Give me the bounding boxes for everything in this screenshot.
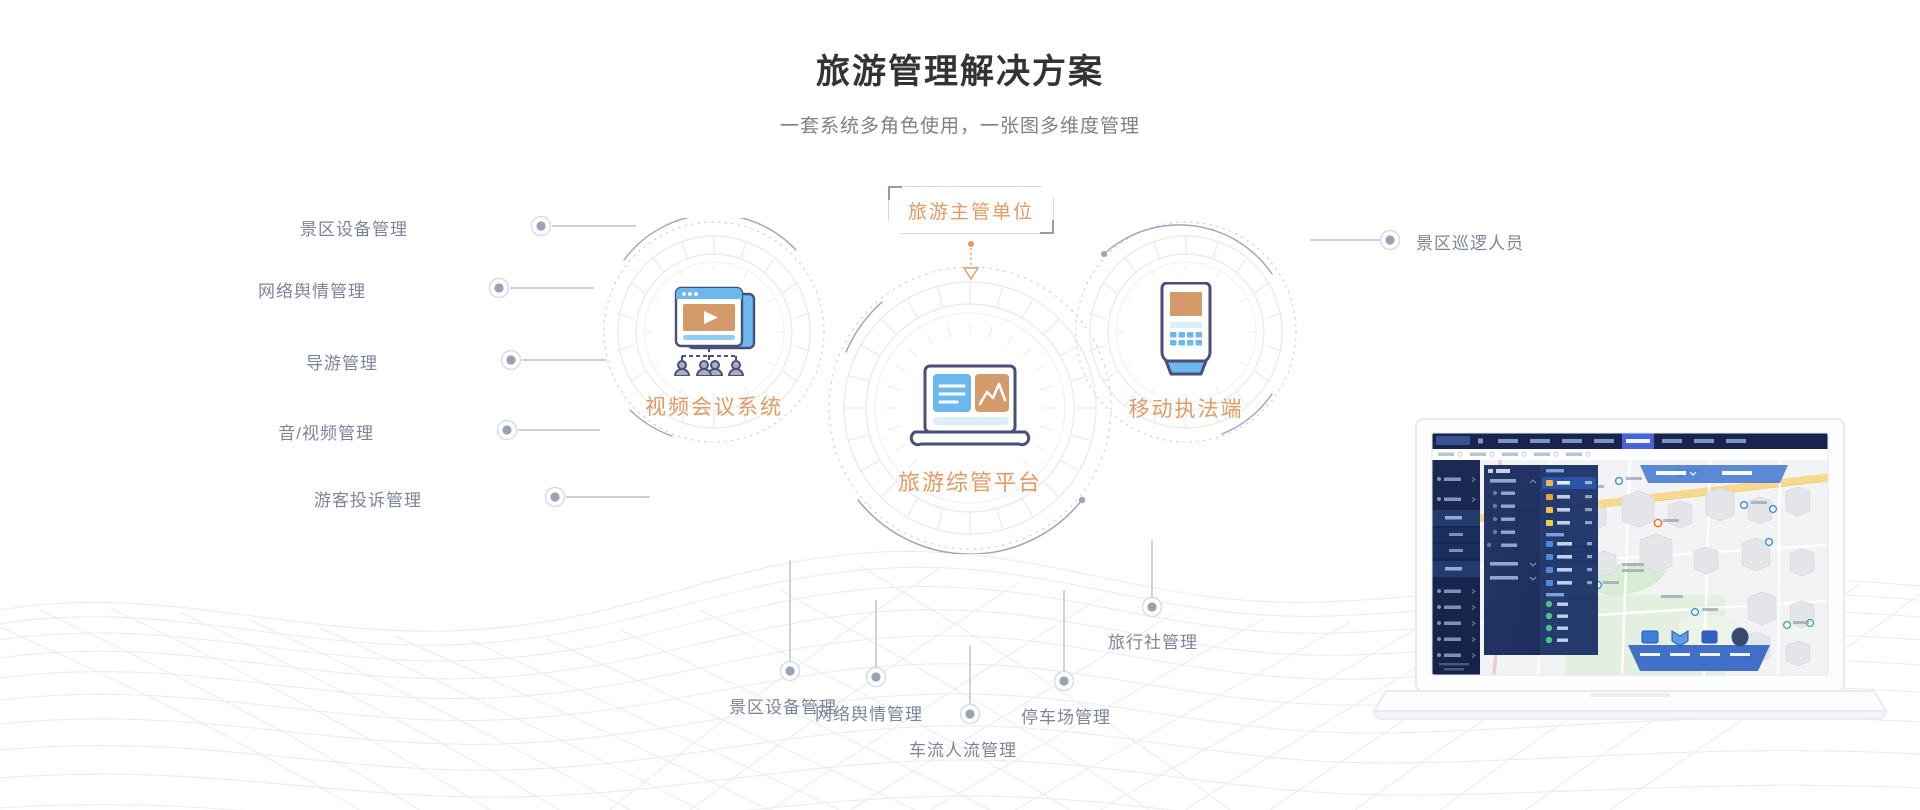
box-edge-left (888, 198, 889, 222)
circle-content-platform[interactable]: 旅游综管平台 (900, 362, 1040, 497)
node-label-bottom-1[interactable]: 网络舆情管理 (815, 700, 923, 725)
circle-label-mobile: 移动执法端 (1129, 393, 1244, 423)
top-authority-box[interactable]: 旅游主管单位 (888, 186, 1054, 234)
node-label-bottom-4[interactable]: 旅行社管理 (1108, 628, 1198, 653)
box-corner-top-left (888, 186, 902, 200)
node-label-left-1[interactable]: 网络舆情管理 (258, 277, 366, 302)
page-subtitle: 一套系统多角色使用，一张图多维度管理 (0, 93, 1920, 138)
circle-content-video[interactable]: 视频会议系统 (654, 280, 774, 421)
node-label-bottom-3[interactable]: 停车场管理 (1021, 703, 1111, 728)
video-conference-icon (658, 280, 770, 381)
node-label-left-4[interactable]: 游客投诉管理 (314, 486, 422, 511)
page-header: 旅游管理解决方案 一套系统多角色使用，一张图多维度管理 (0, 0, 1920, 138)
circle-label-video: 视频会议系统 (645, 391, 783, 421)
laptop-dashboard-icon (905, 362, 1035, 455)
box-corner-bottom-right (1040, 220, 1054, 234)
node-label-bottom-2[interactable]: 车流人流管理 (909, 736, 1017, 761)
box-edge-top (900, 186, 1042, 187)
node-label-left-0[interactable]: 景区设备管理 (300, 215, 408, 240)
circle-content-mobile[interactable]: 移动执法端 (1126, 282, 1246, 423)
authority-arrow-connector (955, 240, 987, 285)
circle-label-platform: 旅游综管平台 (898, 465, 1042, 497)
node-label-left-2[interactable]: 导游管理 (306, 349, 378, 374)
box-edge-right (1053, 198, 1054, 222)
box-edge-bottom (900, 233, 1042, 234)
node-label-left-3[interactable]: 音/视频管理 (278, 419, 374, 444)
node-label-right-0[interactable]: 景区巡逻人员 (1416, 229, 1524, 254)
handheld-terminal-icon (1149, 282, 1223, 383)
top-authority-label: 旅游主管单位 (908, 197, 1034, 224)
page-root: 旅游管理解决方案 一套系统多角色使用，一张图多维度管理 (0, 0, 1920, 810)
laptop-mockup[interactable] (1350, 405, 1910, 810)
page-title: 旅游管理解决方案 (0, 0, 1920, 93)
